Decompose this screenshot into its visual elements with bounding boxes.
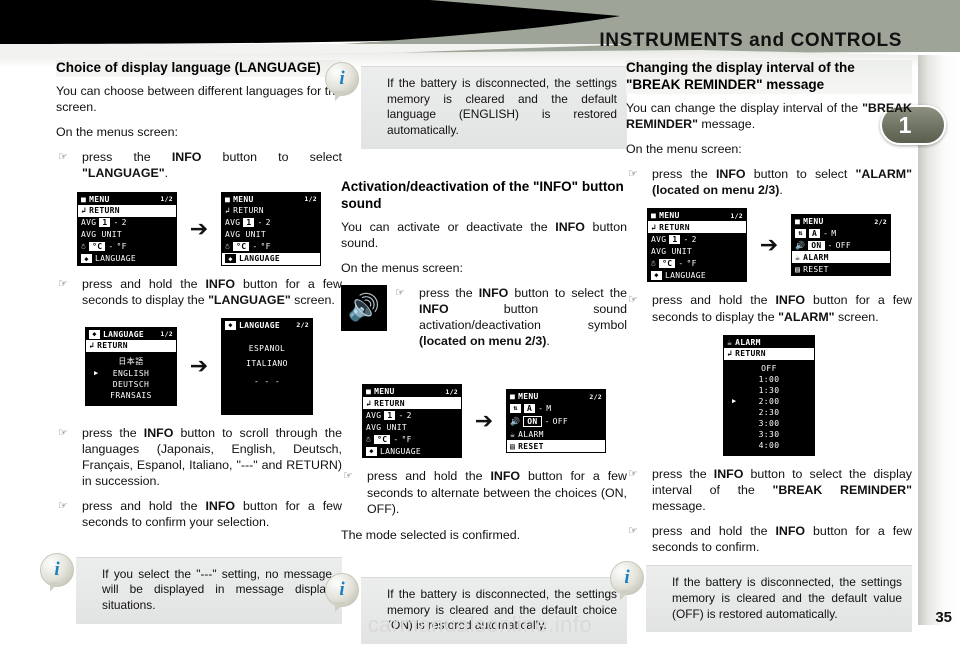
right-step2-b1: INFO — [775, 293, 805, 307]
right-column: Changing the display interval of the "BR… — [626, 60, 912, 642]
speaker-sound-icon: 🔊 — [341, 285, 387, 331]
thermometer-icon: ☃ — [225, 242, 230, 251]
lcd-title-bar: ■ MENU 1/2 — [363, 385, 461, 397]
lcd-row-label: AVG UNIT — [651, 247, 692, 256]
lcd-row-reset: ▤RESET — [507, 440, 605, 452]
right-step3-b2: "BREAK REMINDER" — [772, 483, 912, 497]
lcd-row-sound: 🔊ON-OFF — [792, 239, 890, 251]
lcd-row-sep: - — [108, 242, 113, 251]
list-item: 4:00 — [724, 440, 814, 451]
lcd-row-temp: ☃°C-°F — [78, 241, 176, 253]
cup-icon: ☕ — [795, 253, 800, 262]
left-step2-b1: INFO — [205, 277, 235, 291]
thermometer-icon: ☃ — [651, 259, 656, 268]
lcd-row-avgunit: AVG UNIT — [222, 229, 320, 241]
right-step-1: ☞ press the INFO button to select "ALARM… — [626, 166, 912, 198]
info-icon: i — [325, 62, 359, 96]
lcd-row-label: LANGUAGE — [95, 254, 136, 263]
lcd-language-screen-b: ◆ LANGUAGE 2/2 ESPANOL ITALIANO - - - — [221, 318, 313, 415]
left-step-3: ☞ press the INFO button to scroll throug… — [56, 425, 342, 490]
middle-step-1-row: 🔊 ☞ press the INFO button to select the … — [341, 285, 627, 359]
right-intro-end: message. — [698, 117, 755, 131]
cup-icon: ☕ — [727, 338, 732, 347]
lcd-row-label: RETURN — [89, 206, 120, 215]
reset-icon: ▤ — [795, 265, 800, 274]
lcd-alarm-interval-list: OFF 1:00 1:30 ▶2:00 2:30 3:00 3:30 4:00 — [724, 360, 814, 455]
lcd-menu-screen-a: ■ MENU 1/2 ↲RETURN AVG1-2 AVG UNIT ☃°C-°… — [77, 192, 177, 266]
lcd-language-screen-a: ◆ LANGUAGE 1/2 ↲RETURN 日本語 ▶ENGLISH DEUT… — [85, 327, 177, 406]
lcd-language-list: ESPANOL ITALIANO - - - — [222, 331, 312, 414]
list-item: DEUTSCH — [86, 379, 176, 390]
lcd-row-return: ↲RETURN — [363, 397, 461, 409]
left-intro-text: You can choose between different languag… — [56, 83, 342, 115]
lcd-title-bar: ◆ LANGUAGE 1/2 — [86, 328, 176, 340]
lcd-row-sep: - — [257, 218, 262, 227]
lcd-row-label: RESET — [518, 442, 544, 451]
lcd-item-label: OFF — [761, 364, 777, 373]
lcd-title-text: MENU — [374, 387, 394, 396]
right-info-callout: i If the battery is disconnected, the se… — [626, 565, 912, 632]
lcd-row-return: ↲RETURN — [648, 221, 746, 233]
middle-steps-1: ☞ press the INFO button to select the IN… — [393, 285, 627, 359]
info-icon: i — [40, 553, 74, 587]
lcd-row-sep: - — [252, 242, 257, 251]
lcd-row-sep: - — [828, 241, 833, 250]
middle-step1-b2: INFO — [419, 302, 449, 316]
pointing-hand-icon: ☞ — [58, 150, 68, 164]
toolbox-icon: ■ — [225, 195, 230, 204]
middle-intro-pre: You can activate or deactivate the — [341, 220, 555, 234]
pointing-hand-icon: ☞ — [628, 167, 638, 181]
return-arrow-icon: ↲ — [727, 349, 732, 358]
toolbox-icon: ■ — [366, 387, 371, 396]
middle-step1-pre: press the — [419, 286, 479, 300]
lcd-row-label: AVG — [366, 411, 381, 420]
left-step-1: ☞ press the INFO button to select "LANGU… — [56, 149, 342, 181]
left-step1-pre: press the — [82, 150, 172, 164]
lcd-row-avg: AVG1-2 — [78, 217, 176, 229]
list-item: 3:30 — [724, 429, 814, 440]
lcd-row-label: RETURN — [374, 399, 405, 408]
flow-arrow-icon: ➔ — [182, 218, 216, 240]
left-step1-b2: "LANGUAGE" — [82, 166, 165, 180]
list-item: 3:00 — [724, 418, 814, 429]
lcd-row-distance: ⇅A-M — [507, 402, 605, 414]
right-step1-mid: button to select — [746, 167, 856, 181]
left-column: Choice of display language (LANGUAGE) Yo… — [56, 60, 342, 634]
left-step1-b1: INFO — [172, 150, 202, 164]
right-step-3: ☞ press the INFO button to select the di… — [626, 466, 912, 514]
lcd-row-value: °C — [89, 242, 105, 251]
cup-icon: ☕ — [510, 430, 515, 439]
lcd-row-alt: °F — [686, 259, 696, 268]
language-icon: ◆ — [225, 254, 236, 263]
lcd-row-label: RETURN — [233, 206, 264, 215]
pointing-hand-icon: ☞ — [628, 467, 638, 481]
list-item: ESPANOL — [222, 341, 312, 356]
lcd-row-alt: OFF — [836, 241, 851, 250]
info-icon: i — [610, 561, 644, 595]
lcd-title-text: MENU — [518, 392, 538, 401]
lcd-menu-screen-b: ■ MENU 2/2 ⇅A-M 🔊ON-OFF ☕ALARM ▤RESET — [506, 389, 606, 453]
left-menu-lead: On the menus screen: — [56, 124, 342, 140]
lcd-row-label: RETURN — [659, 223, 690, 232]
right-steps-2: ☞ press and hold the INFO button for a f… — [626, 292, 912, 324]
toolbox-icon: ■ — [510, 392, 515, 401]
lcd-item-label: 4:00 — [759, 441, 780, 450]
return-arrow-icon: ↲ — [81, 206, 86, 215]
lcd-row-value: °C — [374, 435, 390, 444]
lcd-row-return: ↲RETURN — [78, 205, 176, 217]
middle-step2-pre: press and hold the — [367, 469, 490, 483]
return-arrow-icon: ↲ — [651, 223, 656, 232]
lcd-row-alt: M — [831, 229, 836, 238]
lcd-language-list: 日本語 ▶ENGLISH DEUTSCH FRANSAIS — [86, 352, 176, 405]
lcd-row-value: 1 — [384, 411, 395, 420]
list-item: ITALIANO — [222, 356, 312, 371]
middle-step-2: ☞ press and hold the INFO button for a f… — [341, 468, 627, 516]
lcd-row-avg: AVG1-2 — [363, 409, 461, 421]
lcd-row-alt: 2 — [266, 218, 271, 227]
right-step2-b2: "ALARM" — [778, 310, 834, 324]
lcd-row-reset: ▤RESET — [792, 263, 890, 275]
lcd-row-label: AVG — [225, 218, 240, 227]
lcd-row-temp: ☃°C-°F — [648, 257, 746, 269]
lcd-row-distance: ⇅A-M — [792, 227, 890, 239]
lcd-title-bar: ◆ LANGUAGE 2/2 — [222, 319, 312, 331]
left-steps-1: ☞ press the INFO button to select "LANGU… — [56, 149, 342, 181]
lcd-row-alt: °F — [260, 242, 270, 251]
lcd-page-indicator: 2/2 — [589, 393, 602, 401]
left-step2-end: screen. — [291, 293, 335, 307]
right-step4-pre: press and hold the — [652, 524, 775, 538]
lcd-row-sep: - — [545, 417, 550, 426]
list-item: 2:30 — [724, 407, 814, 418]
right-step-2: ☞ press and hold the INFO button for a f… — [626, 292, 912, 324]
lcd-title-text: MENU — [659, 211, 679, 220]
lcd-title-bar: ■ MENU 2/2 — [507, 390, 605, 402]
pointing-hand-icon: ☞ — [58, 499, 68, 513]
middle-intro-text: You can activate or deactivate the INFO … — [341, 219, 627, 251]
left-info-text: If you select the "---" setting, no mess… — [76, 557, 342, 624]
lcd-row-label: AVG UNIT — [225, 230, 266, 239]
lcd-page-indicator: 1/2 — [445, 388, 458, 396]
lcd-row-alt: 2 — [122, 218, 127, 227]
left-language-screens-figure: ◆ LANGUAGE 1/2 ↲RETURN 日本語 ▶ENGLISH DEUT… — [56, 318, 342, 415]
lcd-row-alt: M — [546, 404, 551, 413]
lcd-row-value: °C — [659, 259, 675, 268]
middle-column: i If the battery is disconnected, the se… — [341, 60, 627, 654]
lcd-row-sep: - — [393, 435, 398, 444]
pointing-hand-icon: ☞ — [395, 286, 405, 300]
lcd-row-label: LANGUAGE — [665, 271, 706, 280]
lcd-title-text: ALARM — [735, 338, 761, 347]
lcd-row-label: AVG — [651, 235, 666, 244]
right-step2-pre: press and hold the — [652, 293, 775, 307]
lcd-row-value: A — [524, 404, 535, 413]
lcd-row-label: LANGUAGE — [380, 447, 421, 456]
lcd-row-label: AVG — [81, 218, 96, 227]
lcd-item-label: 日本語 — [118, 357, 143, 366]
right-step1-b1: INFO — [716, 167, 746, 181]
lcd-title-bar: ■ MENU 2/2 — [792, 215, 890, 227]
lcd-item-label: - - - — [254, 377, 280, 386]
lcd-row-value: ON — [808, 241, 824, 250]
lcd-menu-screen-b: ■ MENU 2/2 ⇅A-M 🔊ON-OFF ☕ALARM ▤RESET — [791, 214, 891, 276]
lcd-item-label: 3:30 — [759, 430, 780, 439]
lcd-title-bar: ■ MENU 1/2 — [222, 193, 320, 205]
selection-marker-icon: ▶ — [732, 397, 737, 405]
right-menu-lead: On the menu screen: — [626, 141, 912, 157]
lcd-row-alt: 2 — [692, 235, 697, 244]
lcd-menu-screen-b: ■ MENU 1/2 ↲RETURN AVG1-2 AVG UNIT ☃°C-°… — [221, 192, 321, 266]
lcd-row-alt: OFF — [553, 417, 568, 426]
left-step1-mid: button to select — [201, 150, 342, 164]
toolbox-icon: ■ — [795, 217, 800, 226]
right-step2-end: screen. — [835, 310, 879, 324]
left-info-callout: i If you select the "---" setting, no me… — [56, 557, 342, 624]
middle-step2-b1: INFO — [490, 469, 520, 483]
info-icon: i — [325, 573, 359, 607]
lcd-row-label: RETURN — [97, 341, 128, 350]
language-icon: ◆ — [225, 321, 236, 330]
lcd-row-avg: AVG1-2 — [648, 233, 746, 245]
return-arrow-icon: ↲ — [225, 206, 230, 215]
right-menu-screens-figure: ■ MENU 1/2 ↲RETURN AVG1-2 AVG UNIT ☃°C-°… — [626, 208, 912, 282]
lcd-page-indicator: 1/2 — [730, 212, 743, 220]
lcd-row-language: ◆LANGUAGE — [363, 445, 461, 457]
lcd-item-label: 3:00 — [759, 419, 780, 428]
list-item: - - - — [222, 371, 312, 392]
page-number: 35 — [935, 609, 952, 626]
language-icon: ◆ — [366, 447, 377, 456]
left-step1-end: . — [165, 166, 168, 180]
list-item: 1:30 — [724, 385, 814, 396]
lcd-item-label: 2:30 — [759, 408, 780, 417]
lcd-menu-screen-a: ■ MENU 1/2 ↲RETURN AVG1-2 AVG UNIT ☃°C-°… — [362, 384, 462, 458]
lcd-item-label: 1:00 — [759, 375, 780, 384]
lcd-row-sep: - — [823, 229, 828, 238]
lcd-row-label: RESET — [803, 265, 829, 274]
lcd-row-return: ↲RETURN — [724, 348, 814, 360]
lcd-row-alarm: ☕ALARM — [507, 428, 605, 440]
pointing-hand-icon: ☞ — [628, 293, 638, 307]
left-steps-2: ☞ press and hold the INFO button for a f… — [56, 276, 342, 308]
left-step4-pre: press and hold the — [82, 499, 205, 513]
lcd-page-indicator: 2/2 — [296, 321, 309, 329]
pointing-hand-icon: ☞ — [58, 426, 68, 440]
lcd-item-label: ENGLISH — [113, 369, 150, 378]
middle-menu-lead: On the menus screen: — [341, 260, 627, 276]
left-step3-b1: INFO — [144, 426, 174, 440]
lcd-title-text: MENU — [233, 195, 253, 204]
return-arrow-icon: ↲ — [89, 341, 94, 350]
right-alarm-screen-figure: ☕ ALARM ↲RETURN OFF 1:00 1:30 ▶2:00 2:30… — [626, 335, 912, 456]
lcd-row-label: RETURN — [735, 349, 766, 358]
lcd-title-text: LANGUAGE — [103, 330, 144, 339]
lcd-row-value: 1 — [243, 218, 254, 227]
middle-step-1: ☞ press the INFO button to select the IN… — [393, 285, 627, 350]
lcd-row-temp: ☃°C-°F — [222, 241, 320, 253]
return-arrow-icon: ↲ — [366, 399, 371, 408]
pointing-hand-icon: ☞ — [58, 277, 68, 291]
language-icon: ◆ — [651, 271, 662, 280]
lcd-title-bar: ☕ ALARM — [724, 336, 814, 348]
lcd-item-label: 1:30 — [759, 386, 780, 395]
list-item: 日本語 — [86, 355, 176, 368]
thermometer-icon: ☃ — [81, 242, 86, 251]
lcd-row-sep: - — [113, 218, 118, 227]
lcd-page-indicator: 2/2 — [874, 218, 887, 226]
lcd-title-bar: ■ MENU 1/2 — [78, 193, 176, 205]
lcd-row-alarm: ☕ALARM — [792, 251, 890, 263]
right-step1-pre: press the — [652, 167, 716, 181]
middle-step1-b1: INFO — [479, 286, 509, 300]
lcd-title-text: LANGUAGE — [239, 321, 280, 330]
lcd-page-indicator: 1/2 — [160, 195, 173, 203]
middle-step1-mid: button to select the — [508, 286, 627, 300]
lcd-row-language: ◆LANGUAGE — [78, 253, 176, 265]
lcd-row-label: LANGUAGE — [239, 254, 280, 263]
lcd-row-language: ◆LANGUAGE — [222, 253, 320, 265]
flow-arrow-icon: ➔ — [182, 355, 216, 377]
middle-menu-screens-figure: ■ MENU 1/2 ↲RETURN AVG1-2 AVG UNIT ☃°C-°… — [341, 384, 627, 458]
lcd-title-bar: ■ MENU 1/2 — [648, 209, 746, 221]
page-header-title: INSTRUMENTS and CONTROLS — [599, 30, 902, 52]
right-step3-end: message. — [652, 499, 706, 513]
thermometer-icon: ☃ — [366, 435, 371, 444]
left-step2-pre: press and hold the — [82, 277, 205, 291]
middle-steps-2: ☞ press and hold the INFO button for a f… — [341, 468, 627, 516]
right-intro-pre: You can change the display interval of t… — [626, 101, 862, 115]
pointing-hand-icon: ☞ — [343, 469, 353, 483]
lcd-row-sound: 🔊ON-OFF — [507, 414, 605, 428]
list-item: FRANSAIS — [86, 390, 176, 401]
list-item: OFF — [724, 363, 814, 374]
right-step3-b1: INFO — [714, 467, 744, 481]
left-section-heading: Choice of display language (LANGUAGE) — [56, 60, 342, 77]
lcd-row-value: 1 — [99, 218, 110, 227]
lcd-row-label: AVG UNIT — [81, 230, 122, 239]
toolbox-icon: ■ — [81, 195, 86, 204]
right-step-4: ☞ press and hold the INFO button for a f… — [626, 523, 912, 555]
lcd-item-label: 2:00 — [759, 397, 780, 406]
middle-step1-mid2: button sound activation/deactivation sym… — [419, 302, 627, 332]
left-step4-b1: INFO — [205, 499, 235, 513]
middle-step1-b3: (located on menu 2/3) — [419, 334, 546, 348]
lcd-row-alt: °F — [401, 435, 411, 444]
right-info-text: If the battery is disconnected, the sett… — [646, 565, 912, 632]
lcd-row-value: 1 — [669, 235, 680, 244]
distance-icon: ⇅ — [795, 229, 806, 238]
site-watermark: carmanualsonline.info — [368, 612, 593, 638]
pointing-hand-icon: ☞ — [628, 524, 638, 538]
selection-marker-icon: ▶ — [94, 369, 99, 377]
right-step4-b1: INFO — [775, 524, 805, 538]
language-icon: ◆ — [81, 254, 92, 263]
lcd-row-sep: - — [678, 259, 683, 268]
flow-arrow-icon: ➔ — [467, 410, 501, 432]
lcd-row-sep: - — [538, 404, 543, 413]
lcd-item-label: DEUTSCH — [113, 380, 150, 389]
lcd-row-return: ↲RETURN — [86, 340, 176, 352]
language-icon: ◆ — [89, 330, 100, 339]
lcd-row-language: ◆LANGUAGE — [648, 269, 746, 281]
lcd-page-indicator: 1/2 — [160, 330, 173, 338]
middle-info-top-text: If the battery is disconnected, the sett… — [361, 66, 627, 149]
left-step-4: ☞ press and hold the INFO button for a f… — [56, 498, 342, 530]
left-steps-3: ☞ press the INFO button to scroll throug… — [56, 425, 342, 531]
lcd-row-sep: - — [398, 411, 403, 420]
right-section-heading: Changing the display interval of the "BR… — [626, 60, 912, 94]
lcd-row-sep: - — [683, 235, 688, 244]
lcd-alarm-screen: ☕ ALARM ↲RETURN OFF 1:00 1:30 ▶2:00 2:30… — [723, 335, 815, 456]
lcd-row-avgunit: AVG UNIT — [648, 245, 746, 257]
lcd-row-alt: °F — [116, 242, 126, 251]
middle-info-callout-top: i If the battery is disconnected, the se… — [341, 66, 627, 149]
right-steps-1: ☞ press the INFO button to select "ALARM… — [626, 166, 912, 198]
right-step1-end: . — [779, 183, 782, 197]
lcd-title-text: MENU — [89, 195, 109, 204]
lcd-row-label: ALARM — [518, 430, 544, 439]
lcd-row-avg: AVG1-2 — [222, 217, 320, 229]
middle-confirm-text: The mode selected is confirmed. — [341, 527, 627, 543]
speaker-sound-icon: 🔊 — [510, 417, 520, 426]
left-step2-b2: "LANGUAGE" — [208, 293, 291, 307]
lcd-row-return: ↲RETURN — [222, 205, 320, 217]
lcd-row-label: AVG UNIT — [366, 423, 407, 432]
list-item: 1:00 — [724, 374, 814, 385]
middle-section-heading: Activation/deactivation of the "INFO" bu… — [341, 179, 627, 213]
toolbox-icon: ■ — [651, 211, 656, 220]
lcd-row-avgunit: AVG UNIT — [78, 229, 176, 241]
lcd-item-label: ITALIANO — [246, 359, 288, 368]
list-item: ▶2:00 — [724, 396, 814, 407]
speaker-sound-icon: 🔊 — [795, 241, 805, 250]
right-steps-3: ☞ press the INFO button to select the di… — [626, 466, 912, 556]
lcd-page-indicator: 1/2 — [304, 195, 317, 203]
left-step-2: ☞ press and hold the INFO button for a f… — [56, 276, 342, 308]
lcd-title-text: MENU — [803, 217, 823, 226]
flow-arrow-icon: ➔ — [752, 234, 786, 256]
right-step3-pre: press the — [652, 467, 714, 481]
lcd-item-label: FRANSAIS — [110, 391, 152, 400]
right-intro-text: You can change the display interval of t… — [626, 100, 912, 132]
reset-icon: ▤ — [510, 442, 515, 451]
left-step3-pre: press the — [82, 426, 144, 440]
lcd-row-alt: 2 — [407, 411, 412, 420]
middle-step1-end: . — [546, 334, 549, 348]
lcd-row-value: ON — [523, 416, 541, 427]
lcd-row-label: ALARM — [803, 253, 829, 262]
lcd-row-value: A — [809, 229, 820, 238]
distance-icon: ⇅ — [510, 404, 521, 413]
list-item: ▶ENGLISH — [86, 368, 176, 379]
lcd-row-temp: ☃°C-°F — [363, 433, 461, 445]
lcd-row-value: °C — [233, 242, 249, 251]
lcd-item-label: ESPANOL — [249, 344, 286, 353]
middle-intro-b: INFO — [555, 220, 585, 234]
lcd-menu-screen-a: ■ MENU 1/2 ↲RETURN AVG1-2 AVG UNIT ☃°C-°… — [647, 208, 747, 282]
left-menu-screens-figure: ■ MENU 1/2 ↲RETURN AVG1-2 AVG UNIT ☃°C-°… — [56, 192, 342, 266]
lcd-row-avgunit: AVG UNIT — [363, 421, 461, 433]
